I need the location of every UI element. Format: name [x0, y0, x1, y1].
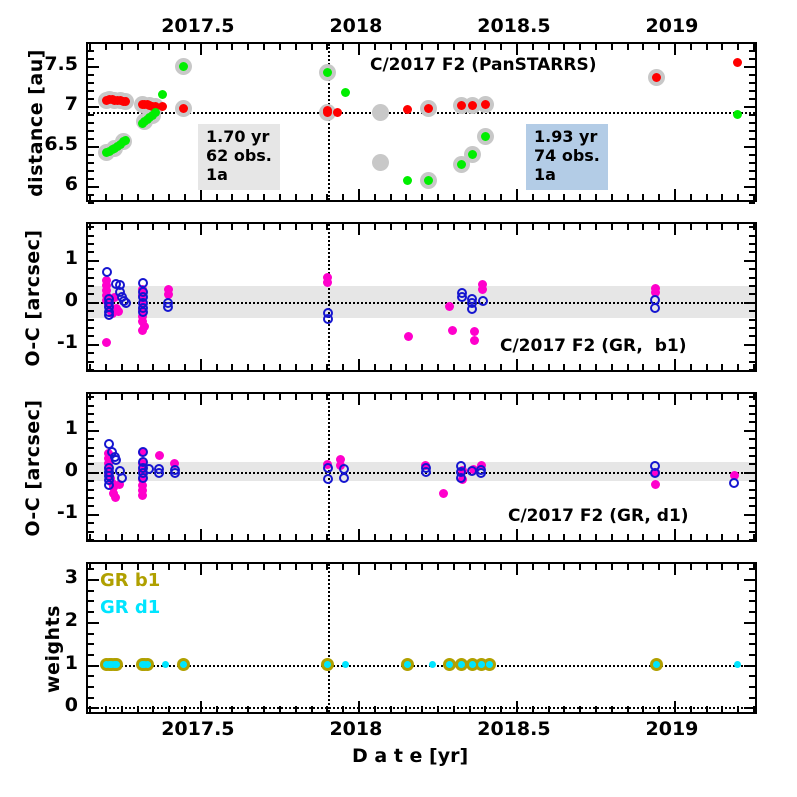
magenta-marker — [439, 489, 448, 498]
x-tick — [184, 706, 186, 712]
x-tick — [484, 564, 486, 570]
x-tick — [231, 194, 233, 200]
y-tick — [88, 90, 94, 92]
x-tick — [516, 189, 518, 200]
x-tick — [263, 534, 265, 540]
y-tick — [88, 178, 94, 180]
x-tick — [279, 564, 281, 570]
x-tick — [690, 364, 692, 370]
x-tick — [295, 534, 297, 540]
x-tick — [390, 564, 392, 570]
x-tick — [311, 44, 313, 50]
y-tick-label: 1 — [8, 652, 78, 674]
x-tick — [706, 364, 708, 370]
y-tick — [749, 463, 755, 465]
blue-open-marker — [138, 447, 148, 457]
x-tick — [231, 394, 233, 400]
x-tick — [216, 394, 218, 400]
y-tick — [88, 235, 94, 237]
blue-open-marker — [163, 302, 173, 312]
x-tick — [658, 706, 660, 712]
y-tick — [749, 352, 755, 354]
x-tick — [690, 44, 692, 50]
x-tick-label-top: 2017.5 — [138, 15, 258, 37]
x-tick — [721, 44, 723, 50]
x-tick — [706, 706, 708, 712]
y-tick — [88, 447, 94, 449]
y-tick — [744, 302, 755, 304]
x-tick-label-top: 2018.5 — [454, 15, 574, 37]
legend-gr-d1-label: GR d1 — [100, 597, 160, 618]
y-tick — [749, 633, 755, 635]
x-tick — [279, 44, 281, 50]
x-tick — [595, 44, 597, 50]
x-tick — [721, 564, 723, 570]
x-tick — [658, 394, 660, 400]
y-tick — [749, 194, 755, 196]
x-tick — [200, 359, 202, 370]
x-tick — [263, 706, 265, 712]
y-tick — [88, 654, 94, 656]
x-tick — [737, 564, 739, 570]
green-marker — [403, 176, 412, 185]
x-tick — [611, 534, 613, 540]
y-tick — [744, 514, 755, 516]
x-tick — [579, 364, 581, 370]
x-tick — [231, 44, 233, 50]
x-tick-label-top: 2018 — [296, 15, 416, 37]
x-tick — [437, 564, 439, 570]
x-tick — [295, 564, 297, 570]
x-tick — [658, 194, 660, 200]
y-tick — [749, 82, 755, 84]
x-tick — [374, 44, 376, 50]
perihelion-line — [328, 224, 330, 370]
x-tick — [121, 706, 123, 712]
y-tick-label: 6.5 — [8, 133, 78, 155]
x-tick — [374, 534, 376, 540]
x-tick — [674, 701, 676, 712]
x-tick — [563, 706, 565, 712]
x-tick — [405, 224, 407, 230]
x-tick — [516, 564, 518, 575]
x-tick — [469, 44, 471, 50]
y-tick — [749, 178, 755, 180]
y-tick — [749, 327, 755, 329]
y-tick — [88, 277, 94, 279]
weight-marker-d1 — [144, 661, 151, 668]
x-tick — [311, 394, 313, 400]
y-tick — [88, 170, 94, 172]
y-tick — [88, 480, 94, 482]
x-tick — [500, 706, 502, 712]
y-tick — [749, 90, 755, 92]
y-tick — [749, 114, 755, 116]
y-tick — [88, 251, 94, 253]
weight-marker-d1 — [486, 661, 493, 668]
x-tick — [184, 564, 186, 570]
x-tick — [532, 394, 534, 400]
x-tick — [706, 44, 708, 50]
x-tick — [421, 194, 423, 200]
y-tick — [749, 568, 755, 570]
y-tick — [88, 522, 94, 524]
x-tick — [200, 529, 202, 540]
weight-marker-d1 — [342, 661, 349, 668]
x-tick — [548, 224, 550, 230]
x-tick — [627, 44, 629, 50]
x-tick — [690, 564, 692, 570]
x-tick — [168, 706, 170, 712]
x-tick — [279, 364, 281, 370]
x-tick — [642, 394, 644, 400]
x-tick — [247, 394, 249, 400]
x-tick — [453, 44, 455, 50]
x-tick — [548, 194, 550, 200]
x-tick — [611, 394, 613, 400]
x-tick — [690, 224, 692, 230]
x-tick — [737, 44, 739, 50]
y-tick-label: 3 — [8, 566, 78, 588]
x-tick — [105, 706, 107, 712]
halo-marker — [372, 104, 389, 121]
y-tick — [749, 154, 755, 156]
x-tick — [611, 224, 613, 230]
y-tick — [749, 697, 755, 699]
x-tick — [548, 706, 550, 712]
blue-open-marker — [323, 314, 333, 324]
blue-open-marker — [138, 307, 148, 317]
x-tick — [737, 706, 739, 712]
blue-open-marker — [729, 478, 739, 488]
x-tick — [469, 534, 471, 540]
x-tick — [405, 394, 407, 400]
x-tick — [105, 44, 107, 50]
y-tick — [749, 319, 755, 321]
x-tick — [690, 194, 692, 200]
x-tick — [484, 194, 486, 200]
y-tick — [749, 285, 755, 287]
x-tick — [121, 394, 123, 400]
x-tick — [105, 394, 107, 400]
x-tick — [721, 364, 723, 370]
x-tick — [390, 394, 392, 400]
y-tick — [749, 531, 755, 533]
x-tick — [500, 44, 502, 50]
y-tick — [749, 226, 755, 228]
x-tick — [168, 194, 170, 200]
x-tick — [295, 394, 297, 400]
x-tick — [437, 194, 439, 200]
x-tick — [721, 194, 723, 200]
x-tick — [168, 44, 170, 50]
magenta-marker — [478, 285, 487, 294]
x-tick — [658, 224, 660, 230]
x-tick — [247, 364, 249, 370]
green-marker — [151, 108, 160, 117]
y-tick — [749, 413, 755, 415]
x-tick — [453, 194, 455, 200]
perihelion-line — [328, 564, 330, 712]
x-tick — [532, 564, 534, 570]
x-tick — [247, 706, 249, 712]
magenta-marker — [651, 480, 660, 489]
y-tick — [749, 421, 755, 423]
x-tick — [216, 194, 218, 200]
x-tick — [342, 44, 344, 50]
weight-marker-d1 — [162, 661, 169, 668]
y-tick — [88, 697, 94, 699]
box-right-line1: 1.93 yr — [534, 127, 597, 146]
x-tick — [295, 194, 297, 200]
x-tick — [627, 706, 629, 712]
x-tick — [405, 706, 407, 712]
y-tick — [749, 480, 755, 482]
y-tick — [88, 186, 99, 188]
x-tick — [342, 564, 344, 570]
x-tick — [721, 706, 723, 712]
y-tick — [88, 66, 99, 68]
weight-marker-d1 — [429, 661, 436, 668]
x-tick — [437, 534, 439, 540]
y-tick — [88, 154, 94, 156]
x-tick — [374, 564, 376, 570]
x-tick — [216, 706, 218, 712]
y-tick — [88, 202, 94, 204]
annotation-box-left: 1.70 yr 62 obs. 1a — [198, 124, 280, 190]
panel-distance-title: C/2017 F2 (PanSTARRS) — [370, 55, 597, 75]
weight-marker-d1 — [734, 661, 741, 668]
x-tick — [342, 534, 344, 540]
x-tick — [358, 224, 360, 235]
y-tick — [88, 74, 94, 76]
x-tick — [595, 224, 597, 230]
box-left-line1: 1.70 yr — [206, 127, 269, 146]
y-tick — [88, 686, 94, 688]
x-tick — [216, 44, 218, 50]
x-tick — [216, 564, 218, 570]
y-tick — [749, 162, 755, 164]
y-tick — [749, 170, 755, 172]
x-tick — [342, 224, 344, 230]
x-tick — [231, 564, 233, 570]
box-left-line3: 1a — [206, 165, 228, 184]
green-marker — [457, 160, 466, 169]
y-tick — [749, 74, 755, 76]
x-tick — [469, 194, 471, 200]
y-tick — [749, 539, 755, 541]
blue-open-marker — [457, 292, 467, 302]
box-left-line2: 62 obs. — [206, 146, 272, 165]
y-tick — [88, 707, 99, 709]
y-tick — [88, 243, 94, 245]
x-tick-label-bottom: 2018.5 — [454, 718, 574, 740]
x-tick — [674, 529, 676, 540]
y-tick — [749, 235, 755, 237]
y-tick — [744, 579, 755, 581]
x-tick — [295, 224, 297, 230]
x-tick — [184, 364, 186, 370]
x-tick — [453, 224, 455, 230]
x-tick — [358, 394, 360, 405]
x-tick — [437, 224, 439, 230]
panel-weights — [86, 562, 757, 714]
y-tick — [749, 455, 755, 457]
y-tick-label: 7 — [8, 93, 78, 115]
x-tick — [642, 706, 644, 712]
x-tick — [311, 534, 313, 540]
x-tick — [326, 564, 328, 570]
y-tick — [88, 58, 94, 60]
y-tick — [88, 505, 94, 507]
y-tick — [88, 463, 94, 465]
green-marker — [481, 132, 490, 141]
x-tick — [358, 564, 360, 575]
x-tick — [279, 706, 281, 712]
y-tick — [88, 643, 94, 645]
panel-oc-b1-title: C/2017 F2 (GR, b1) — [500, 336, 686, 356]
blue-open-marker — [339, 473, 349, 483]
x-tick — [500, 534, 502, 540]
x-tick — [627, 534, 629, 540]
x-tick — [532, 44, 534, 50]
x-tick — [326, 194, 328, 200]
y-tick — [88, 633, 94, 635]
x-tick — [247, 194, 249, 200]
x-tick — [563, 44, 565, 50]
y-tick — [88, 675, 94, 677]
y-tick — [88, 361, 94, 363]
x-tick — [137, 364, 139, 370]
x-tick — [405, 364, 407, 370]
y-tick — [88, 405, 94, 407]
x-tick — [721, 224, 723, 230]
x-tick — [563, 564, 565, 570]
x-tick — [311, 194, 313, 200]
red-marker — [403, 105, 412, 114]
x-tick — [484, 224, 486, 230]
magenta-marker — [448, 326, 457, 335]
x-tick — [152, 224, 154, 230]
x-tick — [611, 44, 613, 50]
x-tick — [674, 224, 676, 235]
y-tick — [749, 405, 755, 407]
y-tick — [744, 146, 755, 148]
x-tick — [390, 194, 392, 200]
x-tick — [737, 534, 739, 540]
x-tick — [500, 564, 502, 570]
x-tick — [500, 224, 502, 230]
y-tick — [88, 327, 94, 329]
y-tick — [88, 310, 94, 312]
x-tick — [516, 701, 518, 712]
x-tick — [358, 44, 360, 55]
y-tick — [88, 98, 94, 100]
x-tick — [706, 564, 708, 570]
y-tick — [749, 590, 755, 592]
x-tick — [295, 44, 297, 50]
x-tick — [421, 44, 423, 50]
green-marker — [341, 88, 350, 97]
x-tick — [247, 224, 249, 230]
y-tick — [749, 243, 755, 245]
magenta-marker — [470, 336, 479, 345]
y-tick — [88, 285, 94, 287]
x-tick — [405, 564, 407, 570]
x-tick — [311, 564, 313, 570]
figure-root: distance [au] C/2017 F2 (PanSTARRS) 1.70… — [0, 0, 797, 797]
y-tick — [88, 82, 94, 84]
x-tick — [137, 394, 139, 400]
x-tick — [263, 224, 265, 230]
x-tick — [342, 194, 344, 200]
x-tick — [200, 44, 202, 55]
green-marker — [468, 150, 477, 159]
y-tick — [749, 369, 755, 371]
x-tick — [121, 44, 123, 50]
red-marker — [333, 108, 342, 117]
x-tick — [500, 364, 502, 370]
y-tick — [749, 58, 755, 60]
x-tick — [200, 224, 202, 235]
x-tick — [358, 529, 360, 540]
y-tick — [88, 531, 94, 533]
x-tick — [611, 364, 613, 370]
x-tick — [200, 189, 202, 200]
x-tick — [595, 564, 597, 570]
x-tick — [453, 534, 455, 540]
x-tick — [421, 224, 423, 230]
x-tick — [326, 364, 328, 370]
x-tick — [374, 194, 376, 200]
y-tick-label: 1 — [8, 417, 78, 439]
x-tick — [579, 194, 581, 200]
x-tick — [579, 564, 581, 570]
x-tick — [390, 534, 392, 540]
x-tick — [674, 44, 676, 55]
x-tick — [595, 364, 597, 370]
y-tick — [88, 130, 94, 132]
y-tick — [88, 162, 94, 164]
x-tick — [168, 224, 170, 230]
x-tick — [184, 44, 186, 50]
y-tick — [88, 268, 94, 270]
x-tick — [500, 394, 502, 400]
x-tick — [563, 394, 565, 400]
x-tick — [642, 364, 644, 370]
x-tick — [358, 701, 360, 712]
x-tick — [642, 194, 644, 200]
x-tick — [231, 706, 233, 712]
y-tick — [749, 447, 755, 449]
y-tick — [88, 106, 99, 108]
y-tick — [88, 539, 94, 541]
x-tick — [152, 194, 154, 200]
box-right-line2: 74 obs. — [534, 146, 600, 165]
y-tick — [88, 319, 94, 321]
weight-marker-d1 — [478, 661, 485, 668]
y-tick — [749, 50, 755, 52]
x-tick — [326, 706, 328, 712]
x-tick — [563, 534, 565, 540]
y-tick — [88, 622, 99, 624]
x-tick — [611, 564, 613, 570]
x-tick — [216, 224, 218, 230]
x-tick — [405, 44, 407, 50]
y-tick — [744, 430, 755, 432]
x-tick — [532, 706, 534, 712]
x-tick — [168, 364, 170, 370]
